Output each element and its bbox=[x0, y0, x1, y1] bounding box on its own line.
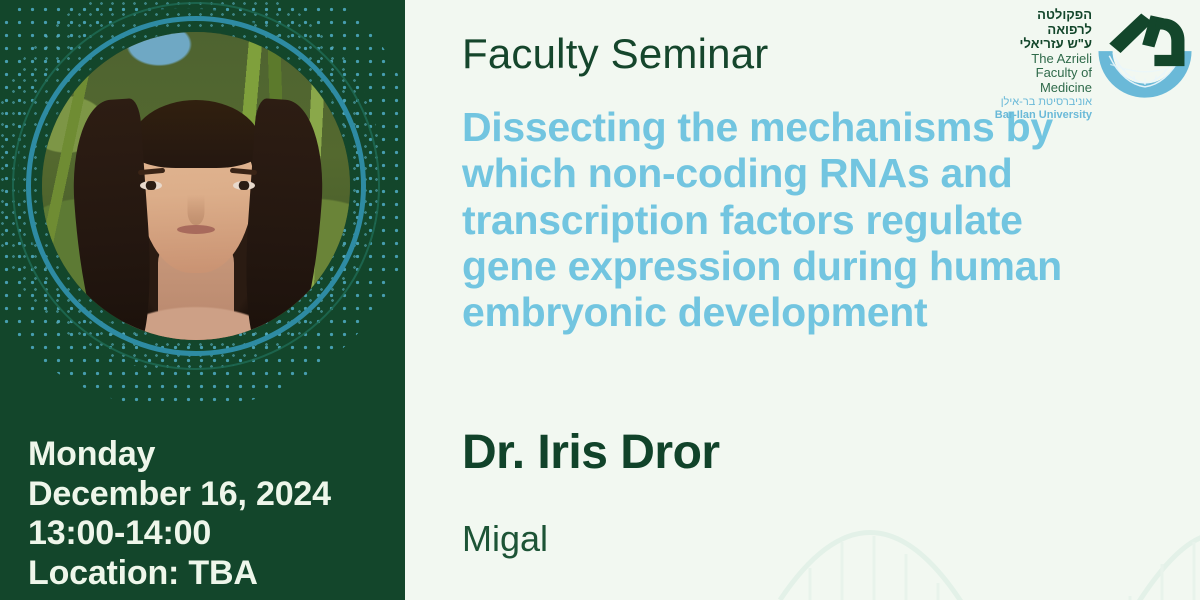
seminar-poster: Monday December 16, 2024 13:00-14:00 Loc… bbox=[0, 0, 1200, 600]
portrait-nose bbox=[188, 195, 205, 225]
portrait-mouth bbox=[177, 225, 215, 234]
event-time: 13:00-14:00 bbox=[28, 514, 388, 554]
event-location: Location: TBA bbox=[28, 554, 388, 594]
talk-title-line: which non-coding RNAs and bbox=[462, 150, 1192, 196]
talk-title: Dissecting the mechanisms by which non-c… bbox=[462, 104, 1192, 336]
logo-english-faculty: Faculty of Medicine bbox=[992, 66, 1092, 95]
seminar-kicker: Faculty Seminar bbox=[462, 30, 768, 78]
logo-text-block: הפקולטה לרפואה ע"ש עזריאלי The Azrieli F… bbox=[992, 6, 1092, 121]
talk-title-line: transcription factors regulate bbox=[462, 197, 1192, 243]
logo-english-university: Bar-Ilan University bbox=[992, 109, 1092, 121]
logo-hebrew-azrieli: ע"ש עזריאלי bbox=[992, 37, 1092, 52]
talk-title-line: gene expression during human bbox=[462, 243, 1192, 289]
event-date: December 16, 2024 bbox=[28, 475, 388, 515]
logo-hebrew-faculty: הפקולטה לרפואה bbox=[992, 8, 1092, 37]
bar-ilan-medicine-emblem-icon bbox=[1098, 6, 1192, 100]
logo-hebrew-university: אוניברסיטת בר-אילן bbox=[992, 96, 1092, 108]
speaker-portrait-photo bbox=[42, 32, 350, 340]
institution-logo: הפקולטה לרפואה ע"ש עזריאלי The Azrieli F… bbox=[992, 6, 1192, 110]
left-panel: Monday December 16, 2024 13:00-14:00 Loc… bbox=[0, 0, 405, 600]
event-datetime-block: Monday December 16, 2024 13:00-14:00 Loc… bbox=[28, 435, 388, 594]
dna-helix-watermark bbox=[770, 420, 1200, 600]
speaker-name: Dr. Iris Dror bbox=[462, 425, 720, 480]
talk-title-line: embryonic development bbox=[462, 289, 1192, 335]
speaker-affiliation: Migal bbox=[462, 518, 548, 560]
event-day: Monday bbox=[28, 435, 388, 475]
logo-english-azrieli: The Azrieli bbox=[992, 52, 1092, 67]
